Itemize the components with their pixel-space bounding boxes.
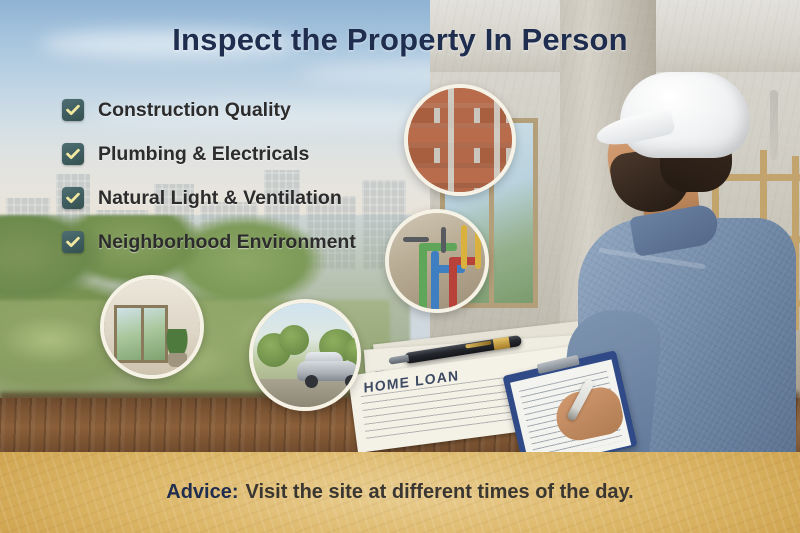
inspection-checklist: Construction Quality Plumbing & Electric… — [62, 88, 356, 264]
neighborhood-street-photo — [249, 299, 361, 411]
checklist-item-label: Plumbing & Electricals — [98, 143, 309, 166]
inspector-figure — [520, 60, 800, 460]
natural-light-interior-photo — [100, 275, 204, 379]
checklist-item-construction-quality[interactable]: Construction Quality — [62, 88, 356, 132]
advice-text-wrap: Advice: Visit the site at different time… — [0, 452, 800, 533]
checklist-item-neighborhood-environment[interactable]: Neighborhood Environment — [62, 220, 356, 264]
check-square-icon[interactable] — [62, 99, 84, 121]
checklist-item-natural-light-ventilation[interactable]: Natural Light & Ventilation — [62, 176, 356, 220]
check-square-icon[interactable] — [62, 231, 84, 253]
advice-banner: Advice: Visit the site at different time… — [0, 452, 800, 533]
check-square-icon[interactable] — [62, 143, 84, 165]
brick-wall-photo — [404, 84, 516, 196]
plumbing-pipes-photo — [385, 209, 489, 313]
page-title: Inspect the Property In Person — [0, 22, 800, 58]
advice-label: Advice: — [166, 481, 238, 504]
checklist-item-label: Natural Light & Ventilation — [98, 187, 342, 210]
checklist-item-plumbing-electricals[interactable]: Plumbing & Electricals — [62, 132, 356, 176]
infographic-poster: HOME LOAN — [0, 0, 800, 533]
checklist-item-label: Neighborhood Environment — [98, 231, 356, 254]
advice-message: Visit the site at different times of the… — [246, 481, 634, 504]
check-square-icon[interactable] — [62, 187, 84, 209]
checklist-item-label: Construction Quality — [98, 99, 291, 122]
